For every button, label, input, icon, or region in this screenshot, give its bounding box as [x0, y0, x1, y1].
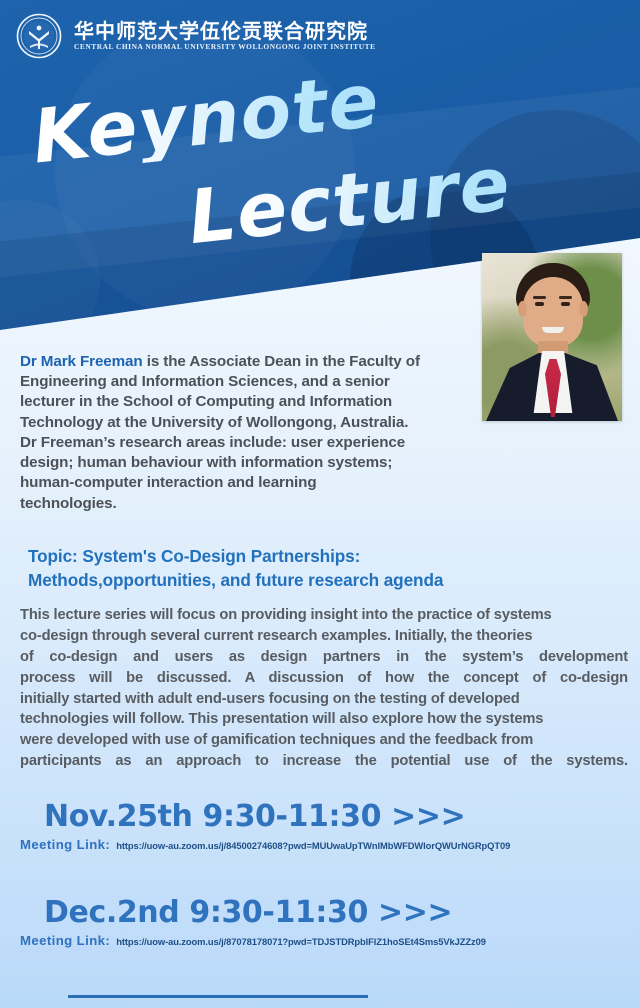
speaker-name: Dr Mark Freeman: [20, 353, 143, 370]
institute-names: 华中师范大学伍伦贡联合研究院 CENTRAL CHINA NORMAL UNIV…: [74, 21, 376, 50]
photo-brow-right: [559, 296, 572, 299]
university-crest-icon: [16, 13, 62, 59]
institute-name-en: CENTRAL CHINA NORMAL UNIVERSITY WOLLONGO…: [74, 43, 376, 50]
bio-line-0: is the Associate Dean in the Faculty of: [143, 353, 420, 370]
bio-line-2: lecturer in the School of Computing and …: [20, 392, 475, 412]
photo-smile: [542, 327, 564, 333]
title-line-lecture: Lecture: [185, 147, 514, 255]
session-block-1: Nov.25th 9:30-11:30 >>> Meeting Link: ht…: [0, 800, 640, 852]
lecture-abstract: This lecture series will focus on provid…: [20, 605, 628, 772]
speaker-biography: Dr Mark Freeman is the Associate Dean in…: [20, 352, 475, 514]
session-block-2: Dec.2nd 9:30-11:30 >>> Meeting Link: htt…: [0, 896, 640, 948]
poster-title: Keynote Lecture: [0, 66, 640, 266]
photo-face: [523, 277, 583, 347]
session-2-meeting-link[interactable]: Meeting Link: https://uow-au.zoom.us/j/8…: [20, 933, 640, 948]
topic-line-1: Topic: System's Co-Design Partnerships:: [28, 544, 608, 568]
bio-line-3: Technology at the University of Wollongo…: [20, 413, 475, 433]
session-1-link-label: Meeting Link:: [20, 837, 110, 852]
session-1-datetime: Nov.25th 9:30-11:30 >>>: [44, 800, 640, 835]
footer-divider-rule: [68, 995, 368, 998]
speaker-photo: [482, 253, 622, 421]
abstract-line-1: co-design through several current resear…: [20, 626, 628, 647]
photo-ear-left: [518, 301, 527, 317]
title-line-keynote: Keynote: [29, 63, 383, 174]
abstract-line-3: process will be discussed. A discussion …: [20, 668, 628, 689]
session-2-datetime: Dec.2nd 9:30-11:30 >>>: [44, 896, 640, 931]
abstract-line-4: initially started with adult end-users f…: [20, 689, 628, 710]
photo-eye-left: [535, 302, 544, 306]
bio-line-4: Dr Freeman’s research areas include: use…: [20, 433, 475, 453]
abstract-line-2: of co-design and users as design partner…: [20, 647, 628, 668]
session-1-link-url[interactable]: https://uow-au.zoom.us/j/84500274608?pwd…: [116, 840, 510, 851]
institute-name-cn: 华中师范大学伍伦贡联合研究院: [74, 21, 376, 41]
keynote-lecture-poster: 华中师范大学伍伦贡联合研究院 CENTRAL CHINA NORMAL UNIV…: [0, 0, 640, 1008]
photo-eye-right: [561, 302, 570, 306]
abstract-line-7: participants as an approach to increase …: [20, 751, 628, 772]
photo-ear-right: [579, 301, 588, 317]
lecture-topic: Topic: System's Co-Design Partnerships: …: [28, 544, 608, 593]
session-1-meeting-link[interactable]: Meeting Link: https://uow-au.zoom.us/j/8…: [20, 837, 640, 852]
bio-line-1: Engineering and Information Sciences, an…: [20, 372, 475, 392]
photo-brow-left: [533, 296, 546, 299]
bio-line-5: design; human behaviour with information…: [20, 453, 475, 473]
abstract-line-6: were developed with use of gamification …: [20, 730, 628, 751]
bio-line-6: human-computer interaction and learning: [20, 473, 475, 493]
abstract-line-0: This lecture series will focus on provid…: [20, 605, 628, 626]
institute-brand-bar: 华中师范大学伍伦贡联合研究院 CENTRAL CHINA NORMAL UNIV…: [16, 13, 376, 59]
bio-line-7: technologies.: [20, 494, 475, 514]
session-2-link-url[interactable]: https://uow-au.zoom.us/j/87078178071?pwd…: [116, 936, 486, 947]
topic-line-2: Methods,opportunities, and future resear…: [28, 568, 608, 592]
abstract-line-5: technologies will follow. This presentat…: [20, 709, 628, 730]
session-2-link-label: Meeting Link:: [20, 933, 110, 948]
